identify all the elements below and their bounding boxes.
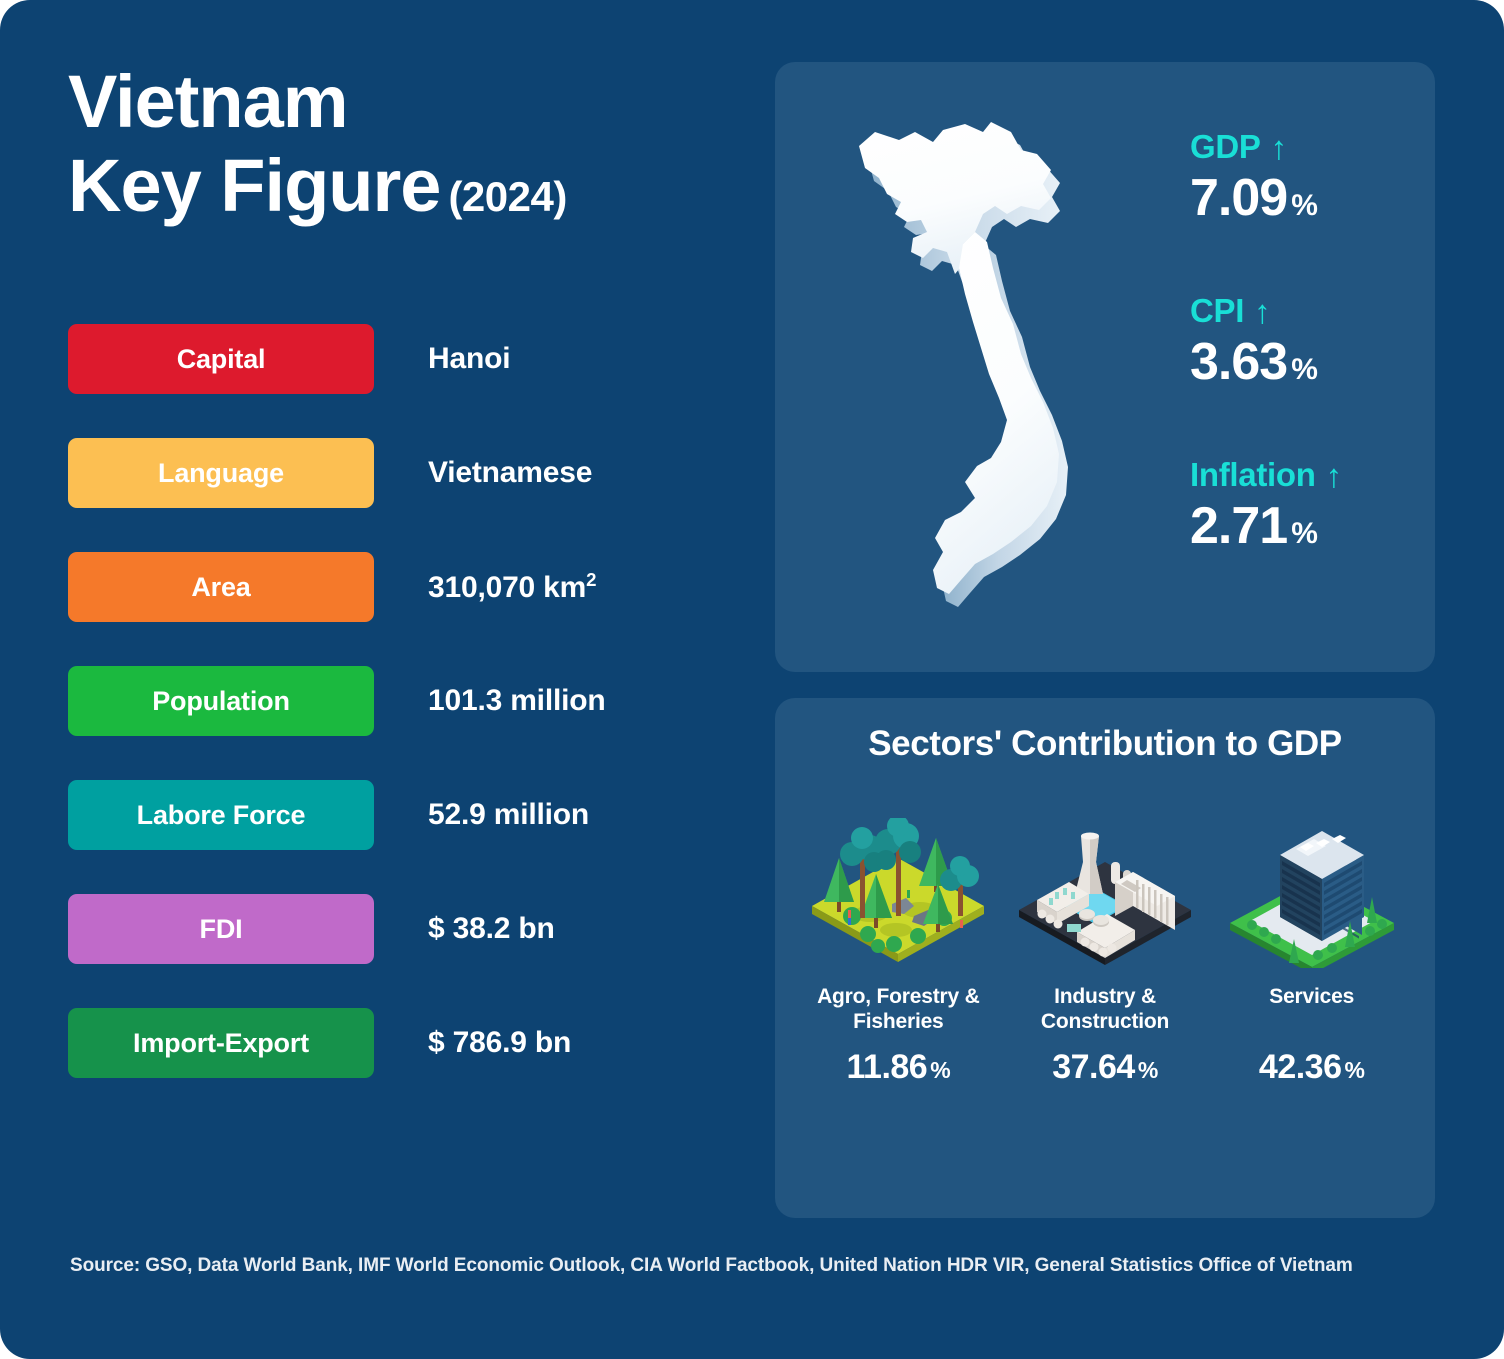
sector-number: 11.86 (847, 1048, 928, 1086)
arrow-up-icon: ↑ (1271, 131, 1287, 164)
page-title-line2: Key Figure (68, 144, 440, 227)
stat-label-badge: Language (68, 438, 374, 508)
sector-unit: % (1138, 1057, 1158, 1083)
key-figures-table: CapitalHanoiLanguageVietnameseArea310,07… (68, 324, 728, 1122)
metric-label: Inflation↑ (1190, 456, 1420, 494)
macro-metrics-list: GDP↑7.09%CPI↑3.63%Inflation↑2.71% (1190, 128, 1420, 564)
stat-label-badge: Capital (68, 324, 374, 394)
forest-icon (806, 803, 991, 968)
sector-item: Industry & Construction37.64% (1002, 803, 1209, 1087)
stat-label-badge: Import-Export (68, 1008, 374, 1078)
title-block: Vietnam Key Figure(2024) (68, 60, 728, 239)
factory-icon (1013, 803, 1198, 968)
infographic-root: Vietnam Key Figure(2024) CapitalHanoiLan… (0, 0, 1504, 1359)
sector-number: 37.64 (1052, 1048, 1135, 1086)
table-row: Import-Export$ 786.9 bn (68, 1008, 728, 1078)
table-row: Labore Force52.9 million (68, 780, 728, 850)
metric-label-text: CPI (1190, 292, 1244, 330)
table-row: Population101.3 million (68, 666, 728, 736)
metric-unit: % (1291, 353, 1317, 386)
vietnam-map-3d-icon (815, 102, 1145, 632)
sector-label: Services (1269, 984, 1354, 1034)
metric-label: GDP↑ (1190, 128, 1420, 166)
metric-label-text: Inflation (1190, 456, 1316, 494)
sector-value: 42.36% (1259, 1048, 1365, 1087)
table-row: Area310,070 km2 (68, 552, 728, 622)
stat-value-superscript: 2 (586, 569, 596, 590)
sectors-panel-title: Sectors' Contribution to GDP (775, 724, 1435, 764)
source-note: Source: GSO, Data World Bank, IMF World … (70, 1255, 1353, 1277)
stat-value: 101.3 million (428, 684, 605, 718)
map-metrics-panel: GDP↑7.09%CPI↑3.63%Inflation↑2.71% (775, 62, 1435, 672)
table-row: CapitalHanoi (68, 324, 728, 394)
metric-label: CPI↑ (1190, 292, 1420, 330)
arrow-up-icon: ↑ (1254, 295, 1270, 328)
metric-value: 7.09% (1190, 168, 1420, 236)
sectors-panel: Sectors' Contribution to GDP (775, 698, 1435, 1218)
sector-number: 42.36 (1259, 1048, 1342, 1086)
sector-value: 37.64% (1052, 1048, 1158, 1087)
metric-gdp: GDP↑7.09% (1190, 128, 1420, 236)
sectors-grid: Agro, Forestry & Fisheries11.86% (795, 803, 1415, 1087)
metric-number: 3.63 (1190, 333, 1287, 391)
metric-label-text: GDP (1190, 128, 1261, 166)
sector-label: Industry & Construction (1002, 984, 1209, 1034)
sector-unit: % (1345, 1057, 1365, 1083)
stat-value: Hanoi (428, 342, 510, 376)
metric-value: 3.63% (1190, 332, 1420, 400)
stat-label-badge: Population (68, 666, 374, 736)
stat-value: Vietnamese (428, 456, 592, 490)
metric-unit: % (1291, 189, 1317, 222)
metric-number: 2.71 (1190, 497, 1287, 555)
stat-value: 310,070 km2 (428, 569, 596, 605)
sector-item: Agro, Forestry & Fisheries11.86% (795, 803, 1002, 1087)
sector-unit: % (930, 1057, 950, 1083)
metric-value: 2.71% (1190, 496, 1420, 564)
metric-unit: % (1291, 517, 1317, 550)
page-title-line1: Vietnam (68, 60, 728, 144)
table-row: LanguageVietnamese (68, 438, 728, 508)
metric-inflation: Inflation↑2.71% (1190, 456, 1420, 564)
sector-item: Services42.36% (1208, 803, 1415, 1087)
table-row: FDI$ 38.2 bn (68, 894, 728, 964)
sector-value: 11.86% (847, 1048, 951, 1087)
office-tower-icon (1219, 803, 1404, 968)
stat-value: $ 38.2 bn (428, 912, 555, 946)
stat-label-badge: FDI (68, 894, 374, 964)
stat-value: 52.9 million (428, 798, 589, 832)
metric-number: 7.09 (1190, 169, 1287, 227)
stat-label-badge: Area (68, 552, 374, 622)
stat-value-text: 310,070 km (428, 571, 586, 604)
stat-value: $ 786.9 bn (428, 1026, 571, 1060)
stat-label-badge: Labore Force (68, 780, 374, 850)
page-title-year: (2024) (448, 173, 566, 220)
metric-cpi: CPI↑3.63% (1190, 292, 1420, 400)
arrow-up-icon: ↑ (1326, 459, 1342, 492)
sector-label: Agro, Forestry & Fisheries (795, 984, 1002, 1034)
